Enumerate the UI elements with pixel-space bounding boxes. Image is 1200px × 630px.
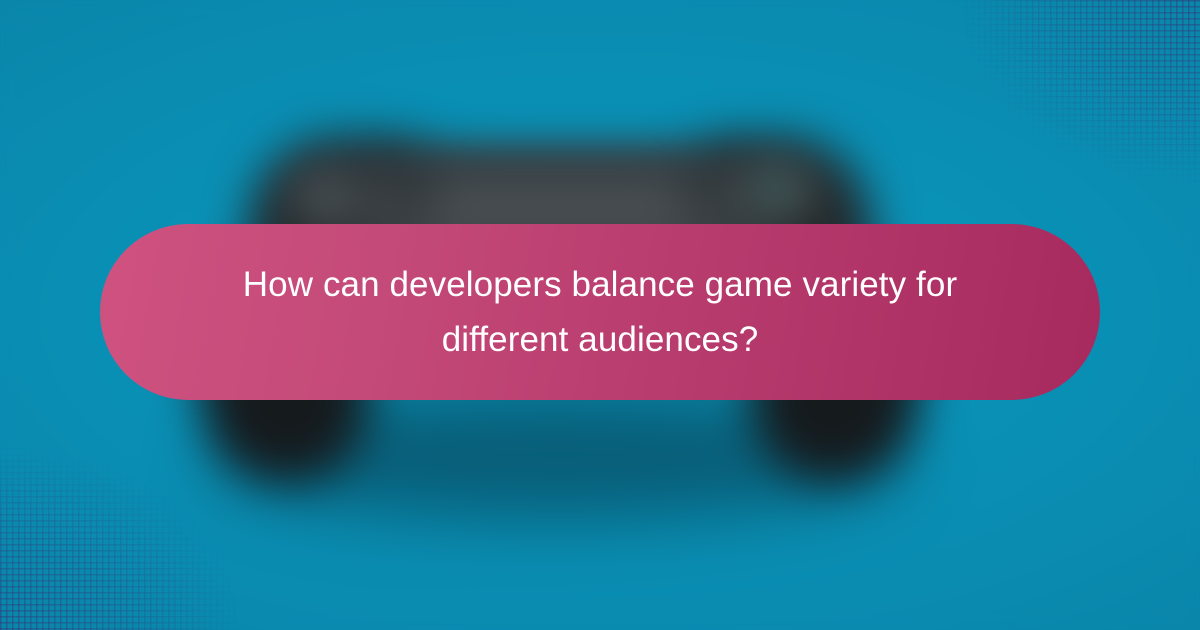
social-card-canvas: How can developers balance game variety … xyxy=(0,0,1200,630)
dot-pattern-bottom-left xyxy=(0,400,300,630)
gamepad-dpad-cluster xyxy=(290,166,364,228)
headline-text: How can developers balance game variety … xyxy=(205,257,995,368)
dot-pattern-top-right xyxy=(900,0,1200,230)
gamepad-highlight-glint xyxy=(760,174,790,200)
headline-banner: How can developers balance game variety … xyxy=(100,224,1100,400)
